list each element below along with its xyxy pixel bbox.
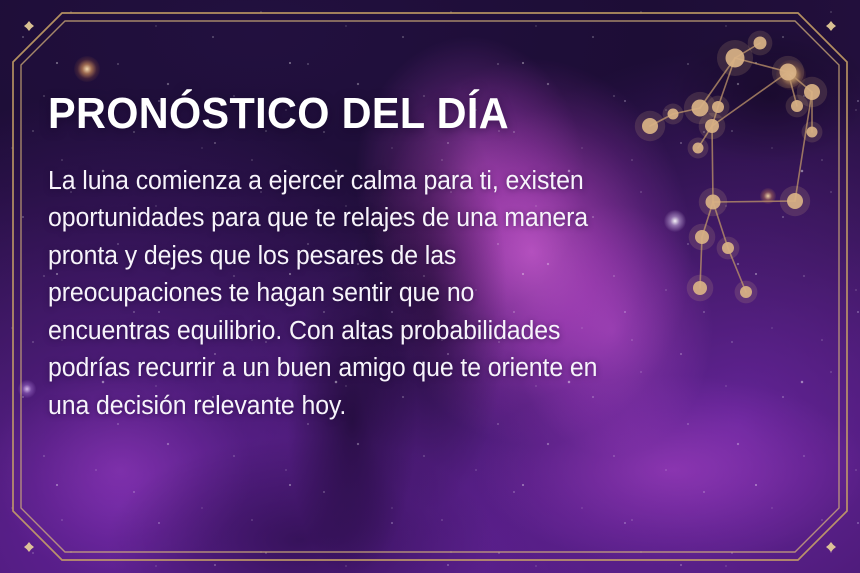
- constellation-node: [804, 84, 820, 100]
- constellation-node-halo: [748, 31, 773, 56]
- forecast-body-text: La luna comienza a ejercer calma para ti…: [48, 137, 600, 426]
- glow-star-small-lower: [760, 188, 776, 204]
- horoscope-card: PRONÓSTICO DEL DÍA La luna comienza a ej…: [0, 0, 860, 573]
- constellation-node-halo: [772, 56, 804, 88]
- constellation-node-halo: [780, 186, 810, 216]
- constellation-node: [791, 100, 803, 112]
- constellation-node: [780, 64, 797, 81]
- constellation-node-halo: [786, 95, 809, 118]
- glow-star-warm-topleft: [74, 56, 100, 82]
- constellation-edge: [735, 58, 788, 72]
- constellation-node: [807, 127, 818, 138]
- card-content: PRONÓSTICO DEL DÍA La luna comienza a ej…: [48, 92, 748, 425]
- glow-star-left-lower: [18, 380, 36, 398]
- constellation-node: [787, 193, 803, 209]
- sparkle-icon-bottom-right: [826, 542, 836, 552]
- constellation-node: [754, 37, 767, 50]
- sparkle-icon-bottom-left: [24, 542, 34, 552]
- constellation-edge: [788, 72, 812, 92]
- sparkle-icon-top-right: [826, 21, 836, 31]
- constellation-node: [726, 49, 745, 68]
- sparkle-icon-top-left: [24, 21, 34, 31]
- constellation-edge: [788, 72, 797, 106]
- constellation-node-halo: [802, 122, 823, 143]
- constellation-node-halo: [717, 40, 753, 76]
- glow-star-warm-constellation: [776, 60, 806, 90]
- constellation-edge: [795, 92, 812, 201]
- constellation-edge: [735, 43, 760, 58]
- constellation-node-halo: [797, 77, 827, 107]
- page-title: PRONÓSTICO DEL DÍA: [48, 92, 706, 137]
